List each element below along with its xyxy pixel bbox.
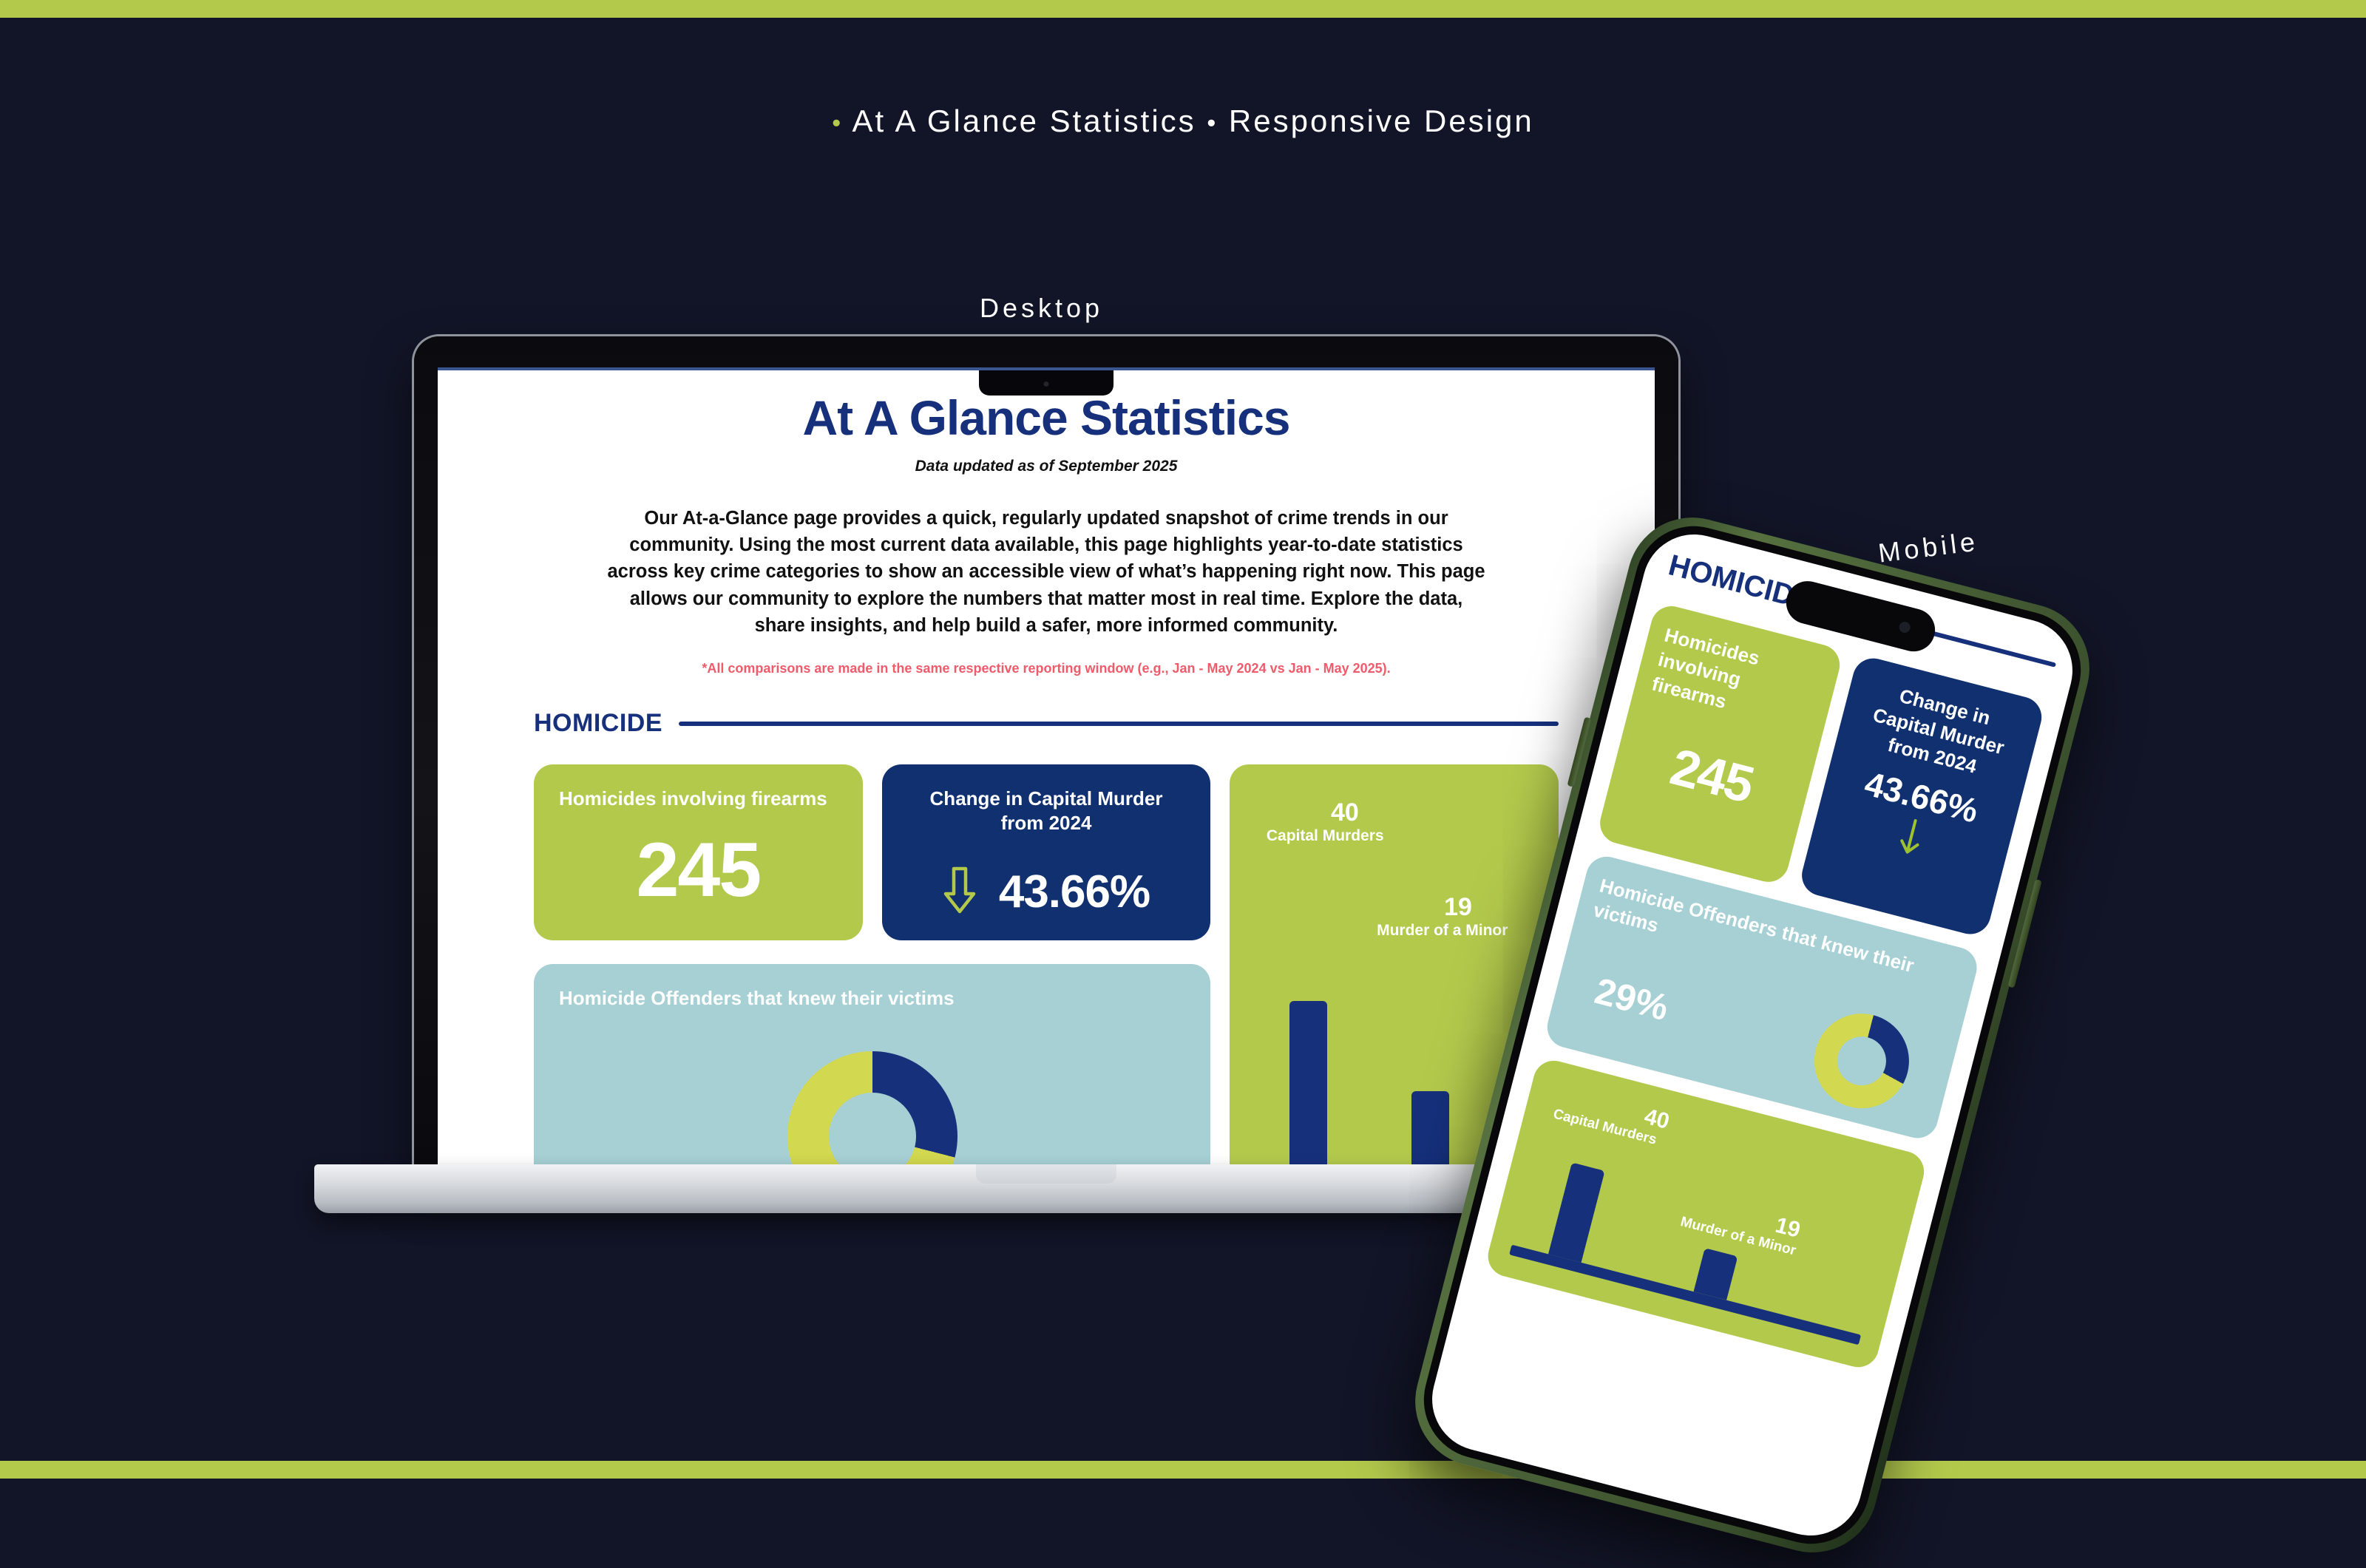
- bar-value-0: 40: [1267, 798, 1423, 827]
- mobile-bar-label-0: 40 Capital Murders: [1551, 1082, 1758, 1172]
- desktop-page: At A Glance Statistics Data updated as o…: [438, 370, 1655, 1170]
- bar-label-0: 40 Capital Murders: [1267, 798, 1423, 845]
- laptop-mockup: At A Glance Statistics Data updated as o…: [414, 336, 1678, 1223]
- headline-part-1: At A Glance Statistics: [852, 103, 1196, 138]
- card-title: Homicides involving firearms: [559, 787, 838, 811]
- mobile-bar-1: [1694, 1248, 1738, 1300]
- card-change-in-capital-murder[interactable]: Change in Capital Murder from 2024 43.66…: [882, 764, 1211, 940]
- bottom-accent-bar: [0, 1461, 2366, 1479]
- page-subtitle: Data updated as of September 2025: [534, 458, 1559, 475]
- bullet-middle-icon: •: [1207, 109, 1218, 137]
- card-title: Homicide Offenders that knew their victi…: [559, 986, 1185, 1011]
- section-header-label: HOMICIDE: [534, 709, 662, 738]
- bar-category-1: Murder of a Minor: [1377, 922, 1539, 940]
- mobile-donut-chart: [1804, 1003, 1919, 1119]
- laptop-camera-icon: [979, 370, 1113, 396]
- page-headline: • At A Glance Statistics • Responsive De…: [0, 103, 2366, 139]
- bar-value-1: 19: [1377, 893, 1539, 922]
- headline-part-2: Responsive Design: [1229, 103, 1534, 138]
- laptop-lid: At A Glance Statistics Data updated as o…: [414, 336, 1678, 1172]
- bar-label-1: 19 Murder of a Minor: [1377, 893, 1539, 940]
- card-title: Change in Capital Murder from 2024: [907, 787, 1186, 836]
- bar-0: [1289, 1001, 1327, 1170]
- page-title: At A Glance Statistics: [534, 390, 1559, 446]
- page-paragraph: Our At-a-Glance page provides a quick, r…: [606, 505, 1486, 639]
- bar-1: [1411, 1091, 1449, 1170]
- donut-chart: [787, 1051, 957, 1170]
- caption-desktop: Desktop: [980, 293, 1103, 324]
- arrow-down-icon: [943, 866, 977, 918]
- card-value-row: 43.66%: [907, 866, 1186, 918]
- mobile-bar-0: [1548, 1162, 1604, 1262]
- page-disclaimer-note: *All comparisons are made in the same re…: [534, 661, 1559, 676]
- laptop-base-notch: [976, 1164, 1116, 1184]
- caption-mobile: Mobile: [1877, 526, 1980, 569]
- card-homicides-involving-firearms[interactable]: Homicides involving firearms 245: [534, 764, 863, 940]
- section-header-rule: [679, 722, 1559, 726]
- stat-card-grid: Homicides involving firearms 245 Change …: [534, 764, 1559, 1170]
- card-value: 245: [559, 832, 838, 909]
- bar-category-0: Capital Murders: [1267, 827, 1423, 845]
- mobile-card-change-in-capital-murder[interactable]: Change in Capital Murder from 2024 43.66…: [1797, 654, 2046, 939]
- mobile-card-title: Homicides involving firearms: [1650, 623, 1824, 736]
- mobile-card-value: 245: [1626, 727, 1797, 824]
- card-value: 43.66%: [999, 866, 1150, 918]
- section-header-homicide: HOMICIDE: [534, 709, 1559, 738]
- card-homicide-offenders-knew-victims[interactable]: Homicide Offenders that knew their victi…: [534, 964, 1210, 1170]
- top-accent-bar: [0, 0, 2366, 18]
- bullet-left-icon: •: [832, 109, 843, 137]
- mobile-card-homicides-involving-firearms[interactable]: Homicides involving firearms 245: [1596, 602, 1844, 886]
- laptop-screen: At A Glance Statistics Data updated as o…: [438, 367, 1655, 1170]
- mobile-card-value: 29%: [1590, 969, 1672, 1029]
